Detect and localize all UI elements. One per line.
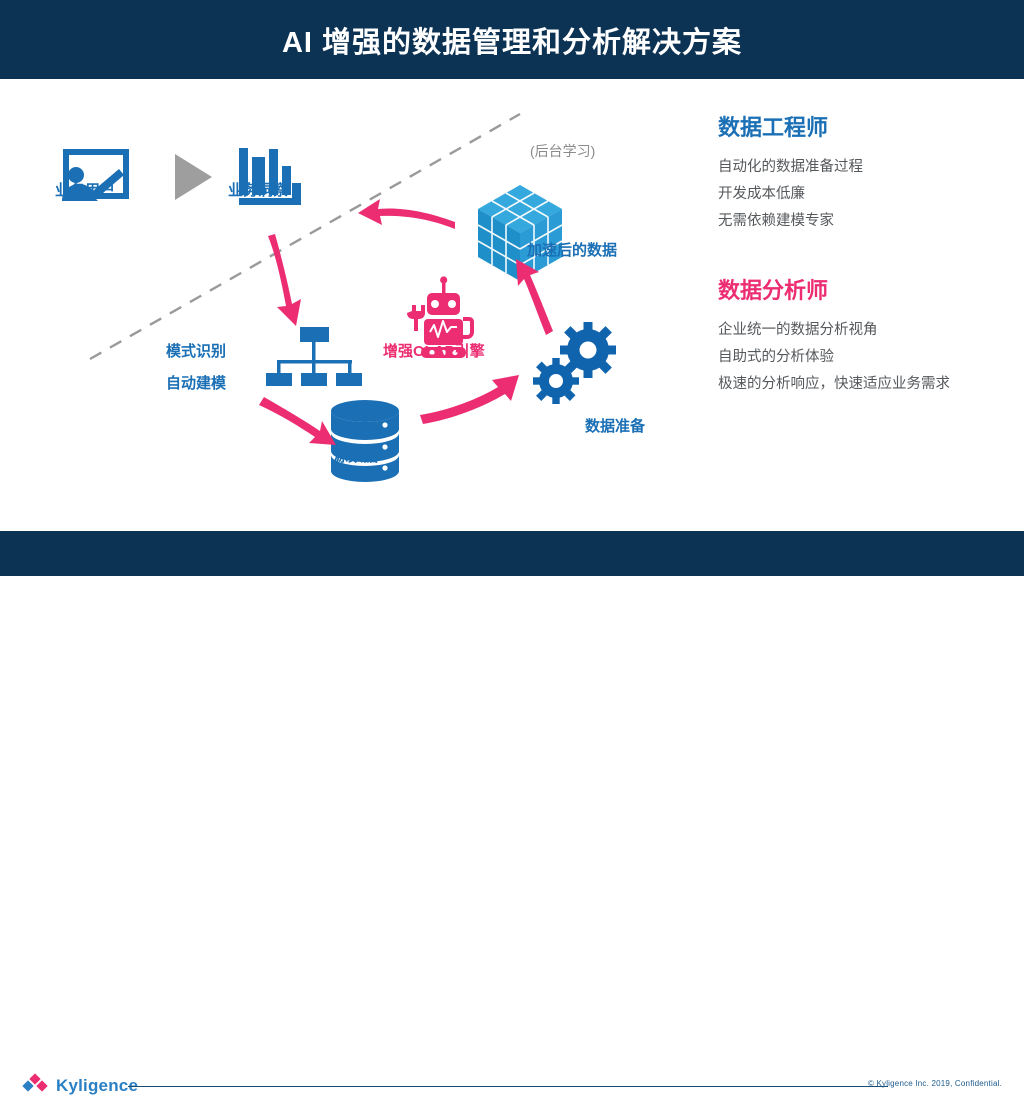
- flow-arrow-to-accelerated: [516, 259, 553, 335]
- node-label-auto-modeling: 自动建模: [166, 372, 226, 393]
- benefit-line: 无需依赖建模专家: [718, 208, 1018, 235]
- panel-section-data-engineer: 数据工程师 自动化的数据准备过程 开发成本低廉 无需依赖建模专家: [718, 110, 1018, 235]
- flow-arrow-to-source: [259, 397, 336, 445]
- flow-arrow-to-preparation: [420, 375, 519, 424]
- benefit-line: 极速的分析响应，快速适应业务需求: [718, 371, 1018, 398]
- benefit-line: 开发成本低廉: [718, 181, 1018, 208]
- node-label-data-preparation: 数据准备: [585, 415, 645, 436]
- roles-panel: 数据工程师 自动化的数据准备过程 开发成本低廉 无需依赖建模专家 数据分析师 企…: [718, 110, 1018, 398]
- node-label-augmented-olap-engine: 增强OLAP引擎: [383, 340, 485, 361]
- node-label-pattern-recognition: 模式识别: [166, 340, 226, 361]
- benefit-line: 企业统一的数据分析视角: [718, 317, 1018, 344]
- background-learning-annotation: (后台学习): [530, 141, 595, 161]
- database-icon: [331, 400, 399, 482]
- node-label-business-user: 业务用户: [55, 179, 115, 200]
- copyright-text: © Kyligence Inc. 2019, Confidential.: [868, 1079, 1002, 1088]
- benefit-line: 自助式的分析体验: [718, 344, 1018, 371]
- slide-footer: Kyligence © Kyligence Inc. 2019, Confide…: [0, 531, 1024, 576]
- footer-divider: [128, 1086, 888, 1087]
- node-label-business-insight: 业务洞察: [228, 179, 288, 200]
- flow-arrow-to-insight: [358, 199, 455, 229]
- kyligence-diamond-icon: [24, 1074, 50, 1098]
- panel-section-data-analyst: 数据分析师 企业统一的数据分析视角 自助式的分析体验 极速的分析响应，快速适应业…: [718, 273, 1018, 398]
- play-triangle-icon: [175, 154, 212, 200]
- brand-name: Kyligence: [56, 1076, 138, 1096]
- hierarchy-icon: [266, 327, 362, 386]
- gears-icon: [533, 322, 616, 404]
- page-title: AI 增强的数据管理和分析解决方案: [0, 0, 1024, 79]
- section-heading-data-analyst: 数据分析师: [718, 273, 1018, 305]
- flow-arrow-to-pattern: [268, 234, 301, 326]
- slide-header: AI 增强的数据管理和分析解决方案: [0, 0, 1024, 79]
- slide: AI 增强的数据管理和分析解决方案: [0, 0, 1024, 576]
- node-label-accelerated-data: 加速后的数据: [527, 239, 617, 260]
- diagram-canvas: 业务用户 业务洞察 模式识别 自动建模 源数据 数据准备 加速后的数据 增强OL…: [0, 79, 690, 531]
- brand-logo: Kyligence: [24, 1074, 138, 1098]
- section-heading-data-engineer: 数据工程师: [718, 110, 1018, 142]
- benefit-line: 自动化的数据准备过程: [718, 154, 1018, 181]
- node-label-source-data: 源数据: [333, 445, 378, 466]
